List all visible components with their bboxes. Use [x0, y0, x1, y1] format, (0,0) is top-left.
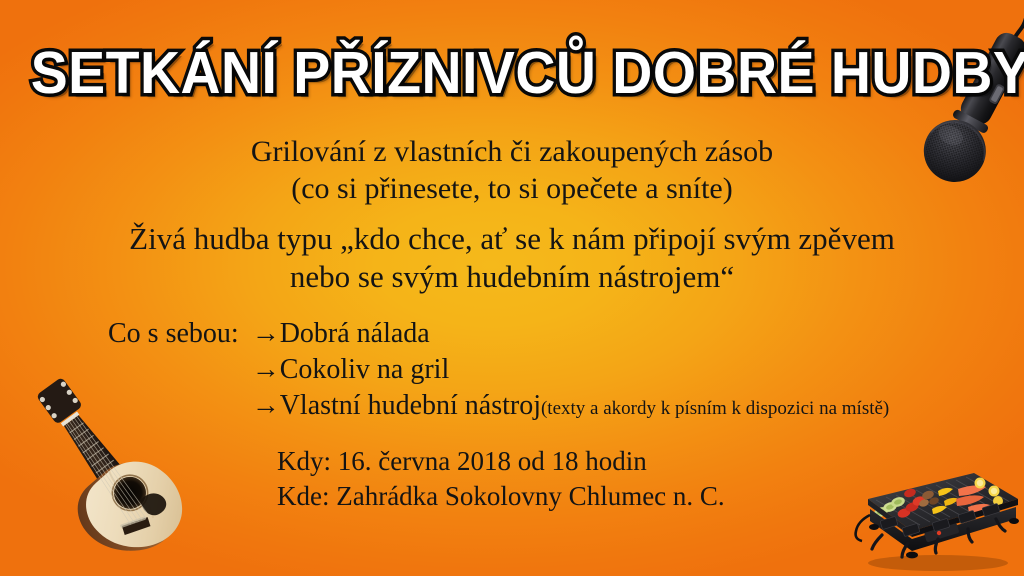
list-item: →Cokoliv na gril — [252, 354, 450, 385]
event-when: Kdy: 16. června 2018 od 18 hodin — [277, 444, 977, 479]
arrow-icon: → — [252, 354, 280, 385]
music-text-block: Živá hudba typu „kdo chce, ať se k nám p… — [0, 220, 1024, 296]
grilling-text-block: Grilování z vlastních či zakoupených zás… — [0, 134, 1024, 207]
grilling-line-1: Grilování z vlastních či zakoupených zás… — [0, 134, 1024, 171]
arrow-icon: → — [252, 318, 280, 349]
bring-item-label: Cokoliv na gril — [280, 354, 450, 385]
event-details-block: Kdy: 16. června 2018 od 18 hodin Kde: Za… — [277, 444, 977, 514]
music-line-2: nebo se svým hudebním nástrojem“ — [0, 258, 1024, 296]
music-line-1: Živá hudba typu „kdo chce, ať se k nám p… — [0, 220, 1024, 258]
bring-item-note: (texty a akordy k písním k dispozici na … — [541, 398, 889, 419]
arrow-icon: → — [252, 390, 280, 421]
bring-items: →Dobrá nálada →Cokoliv na gril →Vlastní … — [252, 316, 890, 423]
bring-item-label: Vlastní hudební nástroj — [280, 390, 541, 421]
list-item: →Vlastní hudební nástroj(texty a akordy … — [252, 390, 890, 421]
poster-canvas: SETKÁNÍ PŘÍZNIVCŮ DOBRÉ HUDBY Grilování … — [0, 0, 1024, 576]
bring-list-block: Co s sebou: →Dobrá nálada →Cokoliv na gr… — [108, 316, 1008, 423]
grilling-line-2: (co si přinesete, to si opečete a sníte) — [0, 171, 1024, 208]
event-where: Kde: Zahrádka Sokolovny Chlumec n. C. — [277, 479, 977, 514]
bring-item-label: Dobrá nálada — [280, 318, 430, 349]
bring-label: Co s sebou: — [108, 316, 239, 352]
poster-title: SETKÁNÍ PŘÍZNIVCŮ DOBRÉ HUDBY — [31, 44, 994, 103]
list-item: →Dobrá nálada — [252, 318, 430, 349]
